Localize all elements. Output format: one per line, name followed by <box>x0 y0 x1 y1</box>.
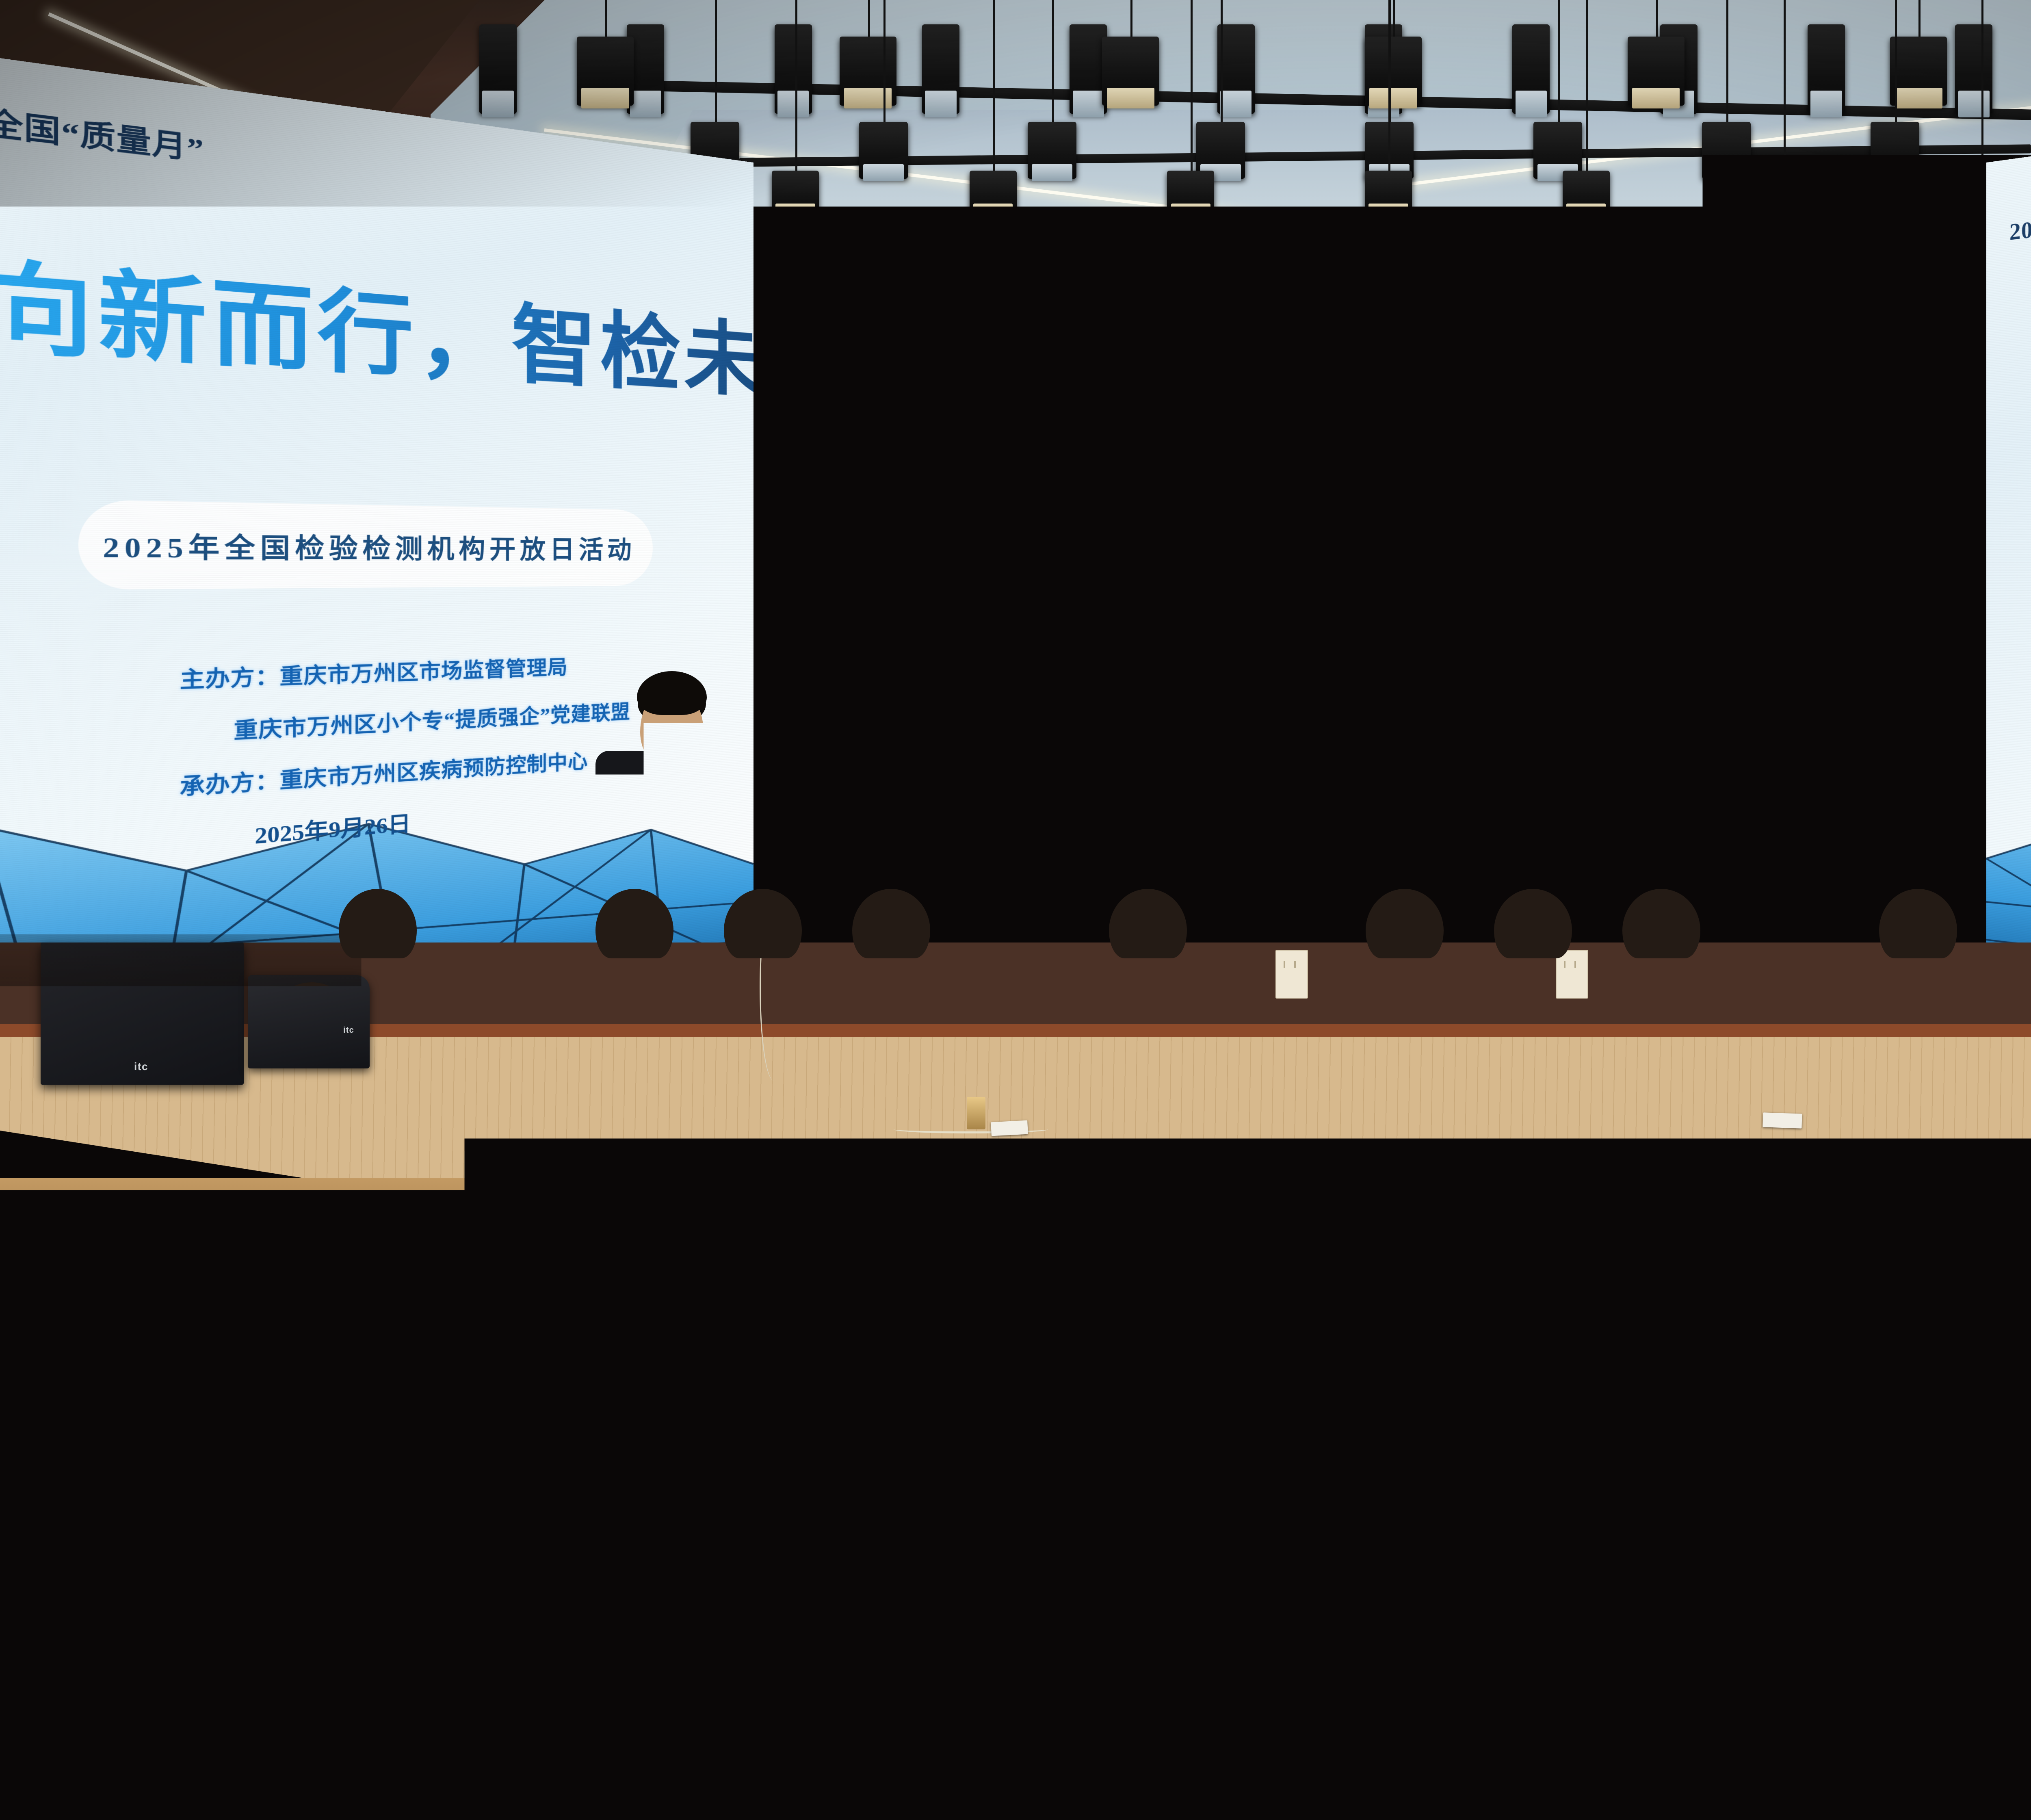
seat-number-tag: B3-9 <box>449 1077 485 1093</box>
lamp-hanger <box>1981 0 1983 171</box>
seat-shading <box>1065 1395 1284 1484</box>
seat-shading <box>1123 1211 1298 1280</box>
lamp-hanger <box>1221 0 1223 122</box>
seat-number-tag: B2-8 <box>1261 966 1292 981</box>
lamp-hanger <box>993 0 995 171</box>
seat-shading <box>830 958 952 1004</box>
seat-shading <box>1129 1618 1405 1722</box>
seat-shading <box>1014 1067 1161 1122</box>
audience-seating: B1-4B1-4B1-4B2-8B2-7B2-6B2-5B2-4B3-9B3-8… <box>0 934 2031 1820</box>
lamp-hanger <box>1393 0 1395 37</box>
seat-shading <box>749 1211 924 1280</box>
seat-shading <box>1684 1211 1858 1280</box>
slide-subtitle-pill: 2025年全国检验检测机构开放日活动 <box>989 504 1753 589</box>
slide-date: 2025年9月26日 <box>1192 791 1340 823</box>
seat-shading <box>1310 1211 1485 1280</box>
stage-light-fixture <box>922 24 959 114</box>
water-bottle <box>1852 483 1873 552</box>
seat-number-tag: B1-4 <box>1005 966 1035 981</box>
seat-shading <box>0 1618 229 1722</box>
lamp-hanger <box>1784 0 1786 171</box>
audience-paper <box>1786 578 1882 622</box>
lamp-hanger <box>1052 0 1054 122</box>
slide-organizer-line: 主办方：重庆市万州区市场监督管理局 <box>1074 642 1441 672</box>
seat-shading <box>189 1211 364 1280</box>
seat-shading <box>1325 1067 1471 1122</box>
seat-shading <box>936 1211 1111 1280</box>
slide-eyebrow: 2025年全国“质量月” <box>0 82 204 169</box>
slide-title: 向新而行，智检未来 <box>851 325 1718 459</box>
lamp-hanger <box>795 0 797 171</box>
seat-shading <box>704 1067 850 1122</box>
lamp-hanger <box>715 0 717 122</box>
slide-organizer-line: 主办方：重庆市万州区市场监督管理局 <box>180 651 567 694</box>
audience-seat[interactable] <box>835 1544 1111 1820</box>
seat-shading <box>1480 1067 1626 1122</box>
seat-shading <box>959 958 1080 1004</box>
slide-subtitle-pill: 2025年全国检验检测机构开放日活动 <box>78 500 653 590</box>
slide-organizer-line: 重庆市万州区小个专“提质强企”党建联盟 <box>234 696 630 745</box>
stage-light-fixture <box>840 37 896 106</box>
seat-shading <box>445 958 567 1004</box>
audience-seat[interactable] <box>541 1544 817 1820</box>
seat-shading <box>549 1067 695 1122</box>
seat-shading <box>376 1211 550 1280</box>
seat-shading <box>1169 1067 1316 1122</box>
seat-number-tag: B2-6 <box>1775 966 1805 981</box>
seat-shading <box>1769 1395 1988 1484</box>
stage-light-fixture <box>1102 37 1159 106</box>
seat-shading <box>360 1395 580 1484</box>
seat-shading <box>247 1618 523 1722</box>
slide-organizer-line: 承办方：重庆市万州区疾病预防控制中心 <box>1074 741 1462 771</box>
seat-shading <box>835 1618 1111 1722</box>
stage-light-fixture <box>1217 24 1255 114</box>
seat-shading <box>1534 1395 1754 1484</box>
lamp-hanger <box>1895 0 1897 122</box>
stage-light-fixture <box>479 24 517 114</box>
seat-number-tag: B1-4 <box>491 966 522 981</box>
stage-light-fixture <box>1365 37 1422 106</box>
seat-number-tag: B1-4 <box>748 966 778 981</box>
audience-seat[interactable] <box>2004 1332 2031 1592</box>
seat-shading <box>1717 1618 1994 1722</box>
seat-shading <box>1497 1211 1672 1280</box>
slide-eyebrow: 2025年全国“质量月” <box>2009 186 2031 247</box>
lamp-hanger <box>1656 0 1658 37</box>
seat-number-tag: B3-8 <box>760 1077 795 1093</box>
podium-nameplate: 殷莉萍 <box>613 831 700 862</box>
audience-seat[interactable] <box>1717 1544 1994 1820</box>
lamp-hanger <box>1586 0 1588 171</box>
seat-shading <box>1729 958 1851 1004</box>
seat-shading <box>830 1395 1049 1484</box>
lamp-hanger <box>1130 0 1132 37</box>
seat-shading <box>541 1618 817 1722</box>
seat-shading <box>1472 958 1594 1004</box>
seat-shading <box>859 1067 1005 1122</box>
lamp-hanger <box>1191 0 1193 171</box>
lamp-hanger <box>1388 0 1390 171</box>
lamp-hanger <box>605 0 607 37</box>
seat-shading <box>238 1067 385 1122</box>
audience-seat[interactable] <box>0 1544 229 1820</box>
lamp-hanger <box>1726 0 1728 122</box>
seat-shading <box>563 1211 737 1280</box>
seat-shading <box>1790 1067 1936 1122</box>
stage-light-fixture <box>1808 24 1845 114</box>
microphone-indicator <box>648 772 656 779</box>
seat-shading <box>1871 1211 2031 1280</box>
audience-paper <box>462 522 549 563</box>
lamp-hanger <box>868 0 870 37</box>
seat-shading <box>317 958 439 1004</box>
slide-organizer-line: 重庆市万州区小个专“提质强企”党建联盟 <box>1123 691 1511 722</box>
audience-seat[interactable] <box>1423 1544 1700 1820</box>
seat-shading <box>1635 1067 1781 1122</box>
audience-seat[interactable] <box>1129 1544 1405 1820</box>
seat-shading <box>126 1395 345 1484</box>
stage-light-fixture <box>1070 24 1107 114</box>
stage-light-fixture <box>1955 24 1992 114</box>
stage-light-fixture <box>1628 37 1685 106</box>
seat-shading <box>702 958 824 1004</box>
seat-shading <box>1087 958 1209 1004</box>
seat-number-tag: B4-10 <box>1687 1077 1730 1093</box>
seat-shading <box>1945 1067 2031 1122</box>
lamp-hanger <box>1558 0 1560 122</box>
stage-light-fixture <box>577 37 634 106</box>
stage-light-fixture <box>1512 24 1550 114</box>
seat-shading <box>394 1067 540 1122</box>
audience-seat[interactable] <box>247 1544 523 1820</box>
seat-number-tag: B2-7 <box>1518 966 1548 981</box>
seat-shading <box>1344 958 1466 1004</box>
slide-title: 向新而行，智检未来 <box>0 225 754 416</box>
seat-shading <box>1423 1618 1700 1722</box>
led-video-wall: 2025年全国“质量月” 向新而行，智检未来 2025年全国检验检测机构开放日活… <box>0 162 2031 967</box>
seat-number-tag: B3-6 <box>1380 1077 1416 1093</box>
seat-shading <box>1299 1395 1519 1484</box>
slide-eyebrow: 2025年全国“质量月” <box>792 243 1040 282</box>
seat-shading <box>574 958 695 1004</box>
auditorium-scene: 2025年全国“质量月” 向新而行，智检未来 2025年全国检验检测机构开放日活… <box>0 0 2031 1820</box>
seat-shading <box>595 1395 814 1484</box>
seat-shading <box>1857 958 1979 1004</box>
stage-light-fixture <box>1890 37 1947 106</box>
water-bottle <box>593 463 614 532</box>
seat-number-tag: B3-7 <box>1070 1077 1105 1093</box>
stage-light-fixture <box>775 24 812 114</box>
seat-shading <box>1600 958 1722 1004</box>
lamp-hanger <box>883 0 886 122</box>
seat-shading <box>1215 958 1337 1004</box>
audience-seat[interactable] <box>2012 1544 2031 1820</box>
lamp-hanger <box>1918 0 1921 37</box>
